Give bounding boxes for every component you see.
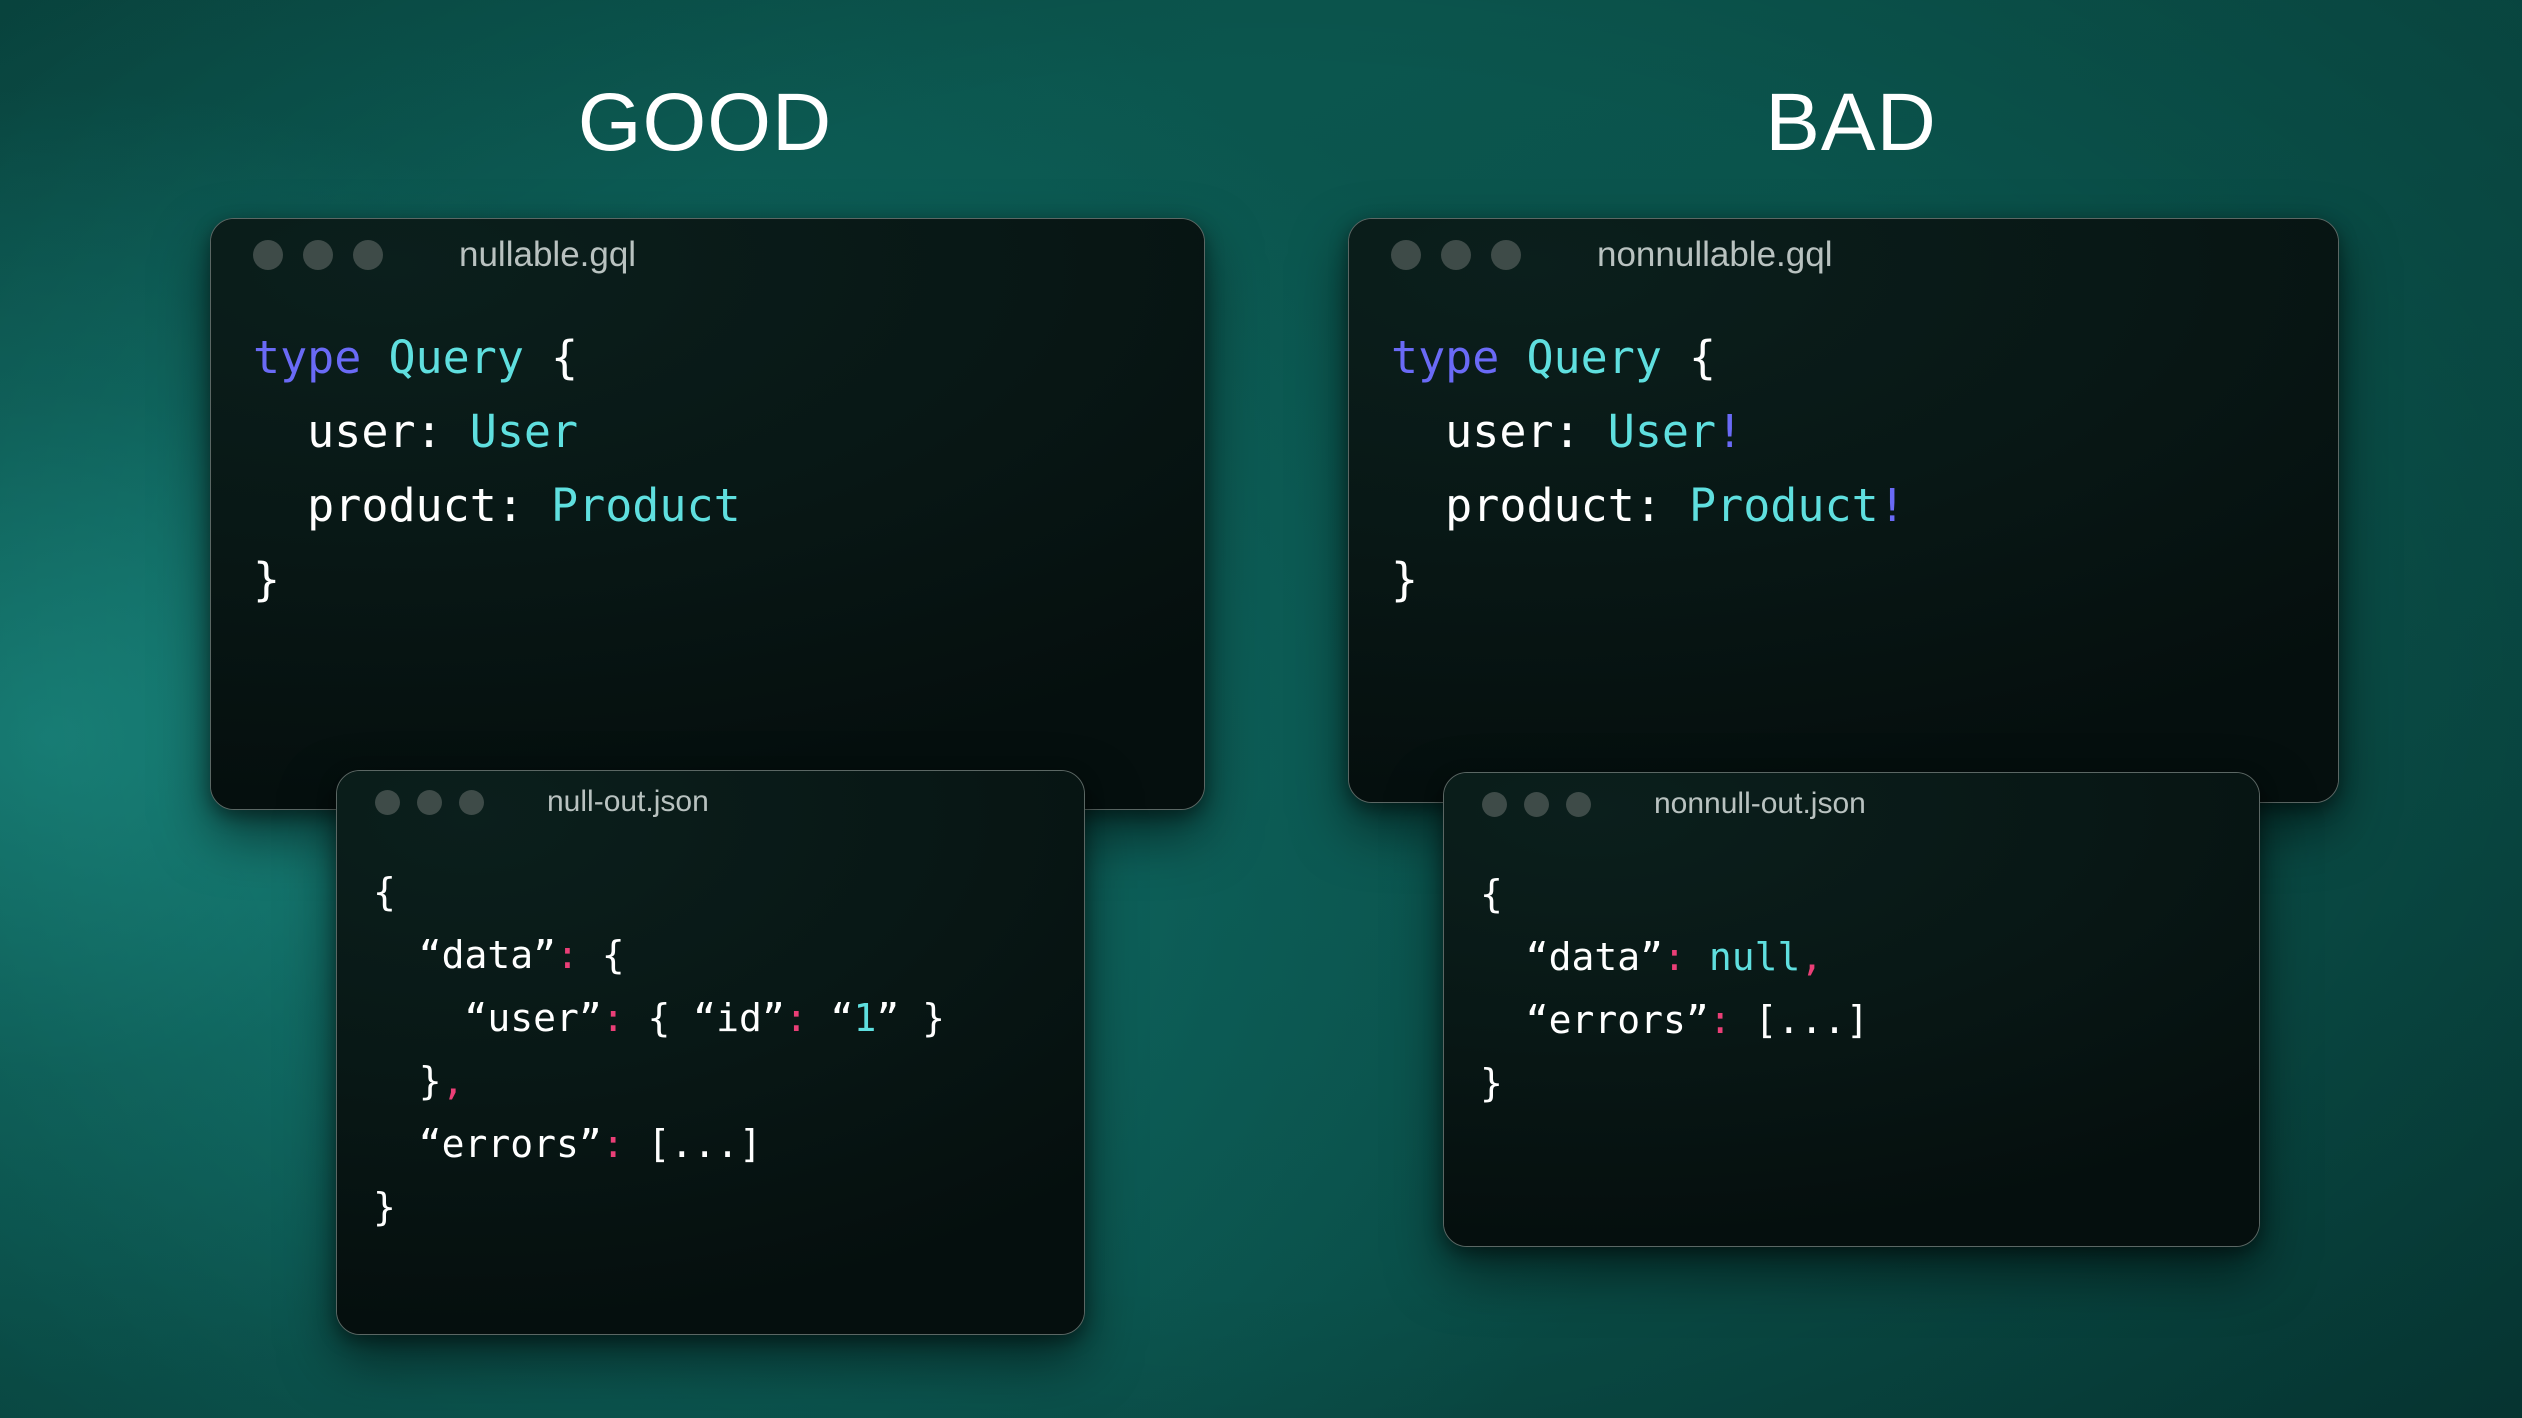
code-line: user: User xyxy=(253,395,1204,469)
code-token: : xyxy=(556,933,579,977)
code-token: { xyxy=(373,870,396,914)
code-token: null xyxy=(1709,935,1801,979)
code-token: : xyxy=(1663,935,1686,979)
maximize-icon[interactable] xyxy=(353,240,383,270)
code-token xyxy=(361,331,388,384)
minimize-icon[interactable] xyxy=(303,240,333,270)
traffic-lights xyxy=(1482,792,1608,817)
code-block[interactable]: type Query { user: User product: Product… xyxy=(211,291,1204,617)
code-token: { xyxy=(524,331,578,384)
code-token xyxy=(1499,331,1526,384)
window-filename: nullable.gql xyxy=(459,235,636,275)
code-token: } xyxy=(373,1185,396,1229)
code-token: [...] xyxy=(1732,998,1869,1042)
minimize-icon[interactable] xyxy=(1524,792,1549,817)
code-line: } xyxy=(373,1176,1084,1239)
code-token: [...] xyxy=(625,1122,762,1166)
code-line: type Query { xyxy=(1391,321,2338,395)
window-filename: null-out.json xyxy=(547,785,709,819)
code-line: } xyxy=(253,543,1204,617)
code-token: : xyxy=(602,996,625,1040)
code-token: product: xyxy=(1391,479,1689,532)
code-token: “errors” xyxy=(1480,998,1709,1042)
maximize-icon[interactable] xyxy=(459,790,484,815)
code-token: “ xyxy=(808,996,854,1040)
code-token: user: xyxy=(1391,405,1608,458)
code-token: type xyxy=(253,331,361,384)
code-token: : xyxy=(785,996,808,1040)
good-json-window[interactable]: null-out.json{ “data”: { “user”: { “id”:… xyxy=(336,770,1085,1335)
code-token: { xyxy=(1662,331,1716,384)
code-line: }, xyxy=(373,1050,1084,1113)
code-token: { xyxy=(1480,872,1503,916)
code-token: : xyxy=(602,1122,625,1166)
window-titlebar: nonnull-out.json xyxy=(1444,773,2259,835)
code-line: user: User! xyxy=(1391,395,2338,469)
comparison-stage: GOODnullable.gqltype Query { user: User … xyxy=(0,0,2522,1418)
code-line: “user”: { “id”: “1” } xyxy=(373,987,1084,1050)
code-token: “user” xyxy=(373,996,602,1040)
code-line: product: Product! xyxy=(1391,469,2338,543)
code-token: ! xyxy=(1879,479,1906,532)
code-token: Query xyxy=(1526,331,1661,384)
code-token: , xyxy=(1800,935,1823,979)
code-token: User xyxy=(1608,405,1716,458)
traffic-lights xyxy=(253,240,403,270)
code-line: “errors”: [...] xyxy=(1480,989,2259,1052)
code-line: “data”: null, xyxy=(1480,926,2259,989)
good-heading: GOOD xyxy=(578,82,833,164)
code-token: “errors” xyxy=(373,1122,602,1166)
code-token: “data” xyxy=(373,933,556,977)
code-token: user: xyxy=(253,405,470,458)
code-token: User xyxy=(470,405,578,458)
code-token: : xyxy=(1709,998,1732,1042)
code-line: { xyxy=(373,861,1084,924)
code-line: { xyxy=(1480,863,2259,926)
maximize-icon[interactable] xyxy=(1566,792,1591,817)
minimize-icon[interactable] xyxy=(417,790,442,815)
close-icon[interactable] xyxy=(253,240,283,270)
traffic-lights xyxy=(375,790,501,815)
code-line: “data”: { xyxy=(373,924,1084,987)
close-icon[interactable] xyxy=(1482,792,1507,817)
code-line: } xyxy=(1391,543,2338,617)
code-line: product: Product xyxy=(253,469,1204,543)
close-icon[interactable] xyxy=(375,790,400,815)
bad-gql-window[interactable]: nonnullable.gqltype Query { user: User! … xyxy=(1348,218,2339,803)
bad-json-window[interactable]: nonnull-out.json{ “data”: null, “errors”… xyxy=(1443,772,2260,1247)
window-titlebar: nonnullable.gql xyxy=(1349,219,2338,291)
code-token: } xyxy=(1480,1061,1503,1105)
code-line: type Query { xyxy=(253,321,1204,395)
code-token: 1 xyxy=(853,996,876,1040)
close-icon[interactable] xyxy=(1391,240,1421,270)
code-block[interactable]: { “data”: null, “errors”: [...]} xyxy=(1444,835,2259,1115)
window-filename: nonnullable.gql xyxy=(1597,235,1832,275)
window-titlebar: null-out.json xyxy=(337,771,1084,833)
code-token: type xyxy=(1391,331,1499,384)
code-line: “errors”: [...] xyxy=(373,1113,1084,1176)
code-token: Product xyxy=(1689,479,1879,532)
traffic-lights xyxy=(1391,240,1541,270)
good-gql-window[interactable]: nullable.gqltype Query { user: User prod… xyxy=(210,218,1205,810)
code-token: ! xyxy=(1716,405,1743,458)
code-token: ” } xyxy=(876,996,945,1040)
code-token: Query xyxy=(388,331,523,384)
code-block[interactable]: { “data”: { “user”: { “id”: “1” } }, “er… xyxy=(337,833,1084,1239)
bad-heading: BAD xyxy=(1765,82,1937,164)
code-token xyxy=(1686,935,1709,979)
window-titlebar: nullable.gql xyxy=(211,219,1204,291)
code-line: } xyxy=(1480,1052,2259,1115)
code-block[interactable]: type Query { user: User! product: Produc… xyxy=(1349,291,2338,617)
code-token: } xyxy=(373,1059,442,1103)
code-token: } xyxy=(1391,553,1418,606)
code-token: { xyxy=(579,933,625,977)
window-filename: nonnull-out.json xyxy=(1654,787,1866,821)
code-token: } xyxy=(253,553,280,606)
minimize-icon[interactable] xyxy=(1441,240,1471,270)
code-token: { “id” xyxy=(625,996,785,1040)
maximize-icon[interactable] xyxy=(1491,240,1521,270)
code-token: Product xyxy=(551,479,741,532)
code-token: , xyxy=(442,1059,465,1103)
code-token: “data” xyxy=(1480,935,1663,979)
code-token: product: xyxy=(253,479,551,532)
